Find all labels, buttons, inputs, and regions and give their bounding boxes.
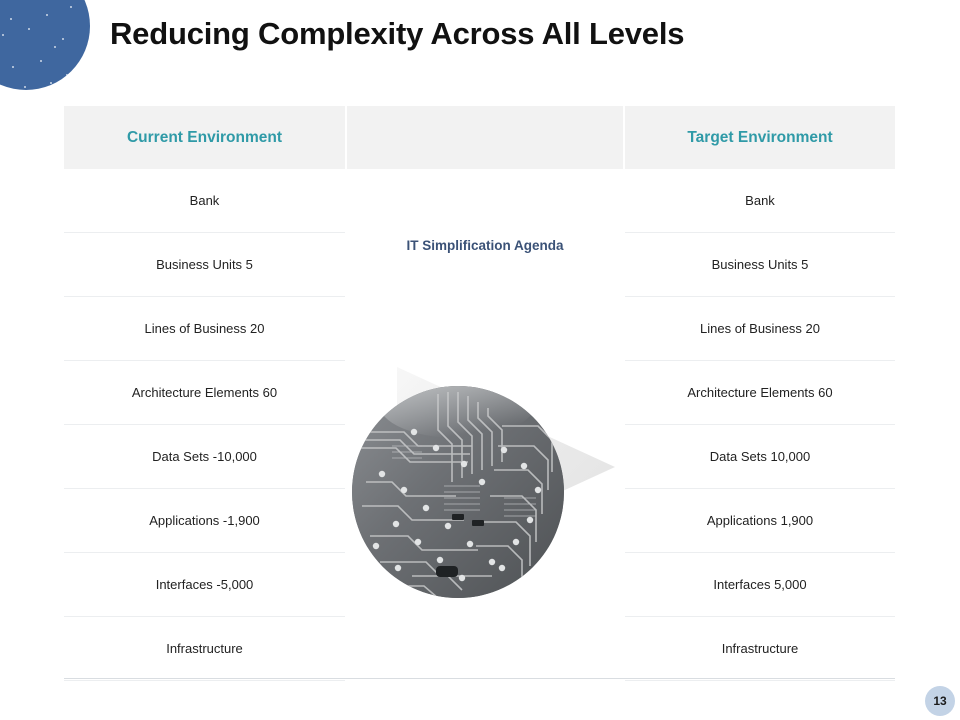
column-header-current-environment: Current Environment bbox=[64, 106, 345, 169]
it-simplification-agenda-label: IT Simplification Agenda bbox=[345, 238, 625, 253]
table-row: Bank bbox=[625, 169, 895, 233]
page-number-badge: 13 bbox=[925, 686, 955, 716]
table-row: Infrastructure bbox=[625, 617, 895, 681]
speckle-dot bbox=[10, 18, 12, 20]
column-header-target-environment: Target Environment bbox=[625, 106, 895, 169]
table-row: Business Units 5 bbox=[625, 233, 895, 297]
table-row: Data Sets -10,000 bbox=[64, 425, 345, 489]
table-row: Lines of Business 20 bbox=[625, 297, 895, 361]
table-row: Data Sets 10,000 bbox=[625, 425, 895, 489]
table-row: Applications 1,900 bbox=[625, 489, 895, 553]
decorative-corner-circle bbox=[0, 0, 90, 90]
speckle-dot bbox=[66, 74, 68, 76]
speckle-dot bbox=[2, 34, 4, 36]
table-header-row: Current Environment Target Environment bbox=[64, 106, 895, 169]
speckle-dot bbox=[62, 38, 64, 40]
speckle-dot bbox=[70, 6, 72, 8]
table-row: Applications -1,900 bbox=[64, 489, 345, 553]
circuit-board-photo bbox=[352, 386, 564, 598]
table-row: Lines of Business 20 bbox=[64, 297, 345, 361]
table-bottom-divider bbox=[64, 678, 895, 679]
speckle-dot bbox=[12, 66, 14, 68]
table-row: Business Units 5 bbox=[64, 233, 345, 297]
speckle-dot bbox=[24, 86, 26, 88]
middle-graphic-column: IT Simplification Agenda bbox=[345, 169, 625, 679]
target-environment-column: BankBusiness Units 5Lines of Business 20… bbox=[625, 169, 895, 679]
speckle-dot bbox=[28, 28, 30, 30]
speckle-dot bbox=[46, 14, 48, 16]
page-title: Reducing Complexity Across All Levels bbox=[110, 16, 684, 52]
table-row: Bank bbox=[64, 169, 345, 233]
current-environment-column: BankBusiness Units 5Lines of Business 20… bbox=[64, 169, 345, 679]
speckle-dot bbox=[40, 60, 42, 62]
table-row: Infrastructure bbox=[64, 617, 345, 681]
table-row: Interfaces -5,000 bbox=[64, 553, 345, 617]
comparison-table: Current Environment Target Environment B… bbox=[64, 106, 895, 679]
table-row: Architecture Elements 60 bbox=[64, 361, 345, 425]
table-row: Architecture Elements 60 bbox=[625, 361, 895, 425]
table-body: BankBusiness Units 5Lines of Business 20… bbox=[64, 169, 895, 679]
speckle-dot bbox=[54, 46, 56, 48]
table-row: Interfaces 5,000 bbox=[625, 553, 895, 617]
column-header-middle bbox=[345, 106, 625, 169]
speckle-dot bbox=[50, 82, 52, 84]
